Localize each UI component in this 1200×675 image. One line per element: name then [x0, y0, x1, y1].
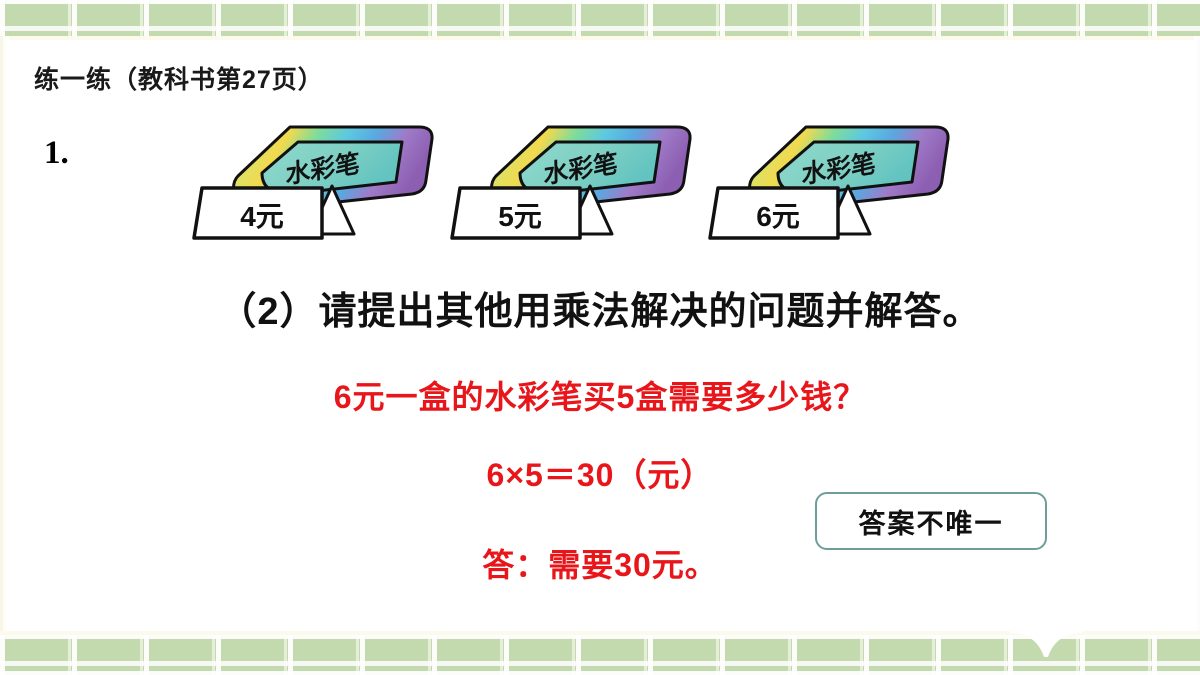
price-label: 4元 — [240, 201, 284, 232]
note-box: 答案不唯一 — [815, 492, 1047, 550]
top-plaid-border — [0, 0, 1200, 40]
exercise-number: 1. — [44, 135, 69, 172]
product-item: 水彩笔 4元 — [186, 110, 456, 260]
product-item: 水彩笔 5元 — [444, 110, 714, 260]
equation-text: 6×5＝30（元） — [0, 450, 1200, 496]
product-row: 水彩笔 4元 — [186, 110, 1136, 260]
student-question-text: 6元一盒的水彩笔买5盒需要多少钱？ — [0, 372, 1200, 418]
slide-canvas: 练一练（教科书第27页） 1. — [0, 0, 1200, 675]
price-label: 5元 — [498, 201, 542, 232]
page-title: 练一练（教科书第27页） — [34, 60, 324, 96]
question-prompt: （2）请提出其他用乘法解决的问题并解答。 — [0, 280, 1200, 335]
product-item: 水彩笔 6元 — [702, 110, 972, 260]
price-label: 6元 — [756, 201, 800, 232]
note-box-label: 答案不唯一 — [859, 502, 1004, 541]
bottom-plaid-border — [0, 631, 1200, 675]
